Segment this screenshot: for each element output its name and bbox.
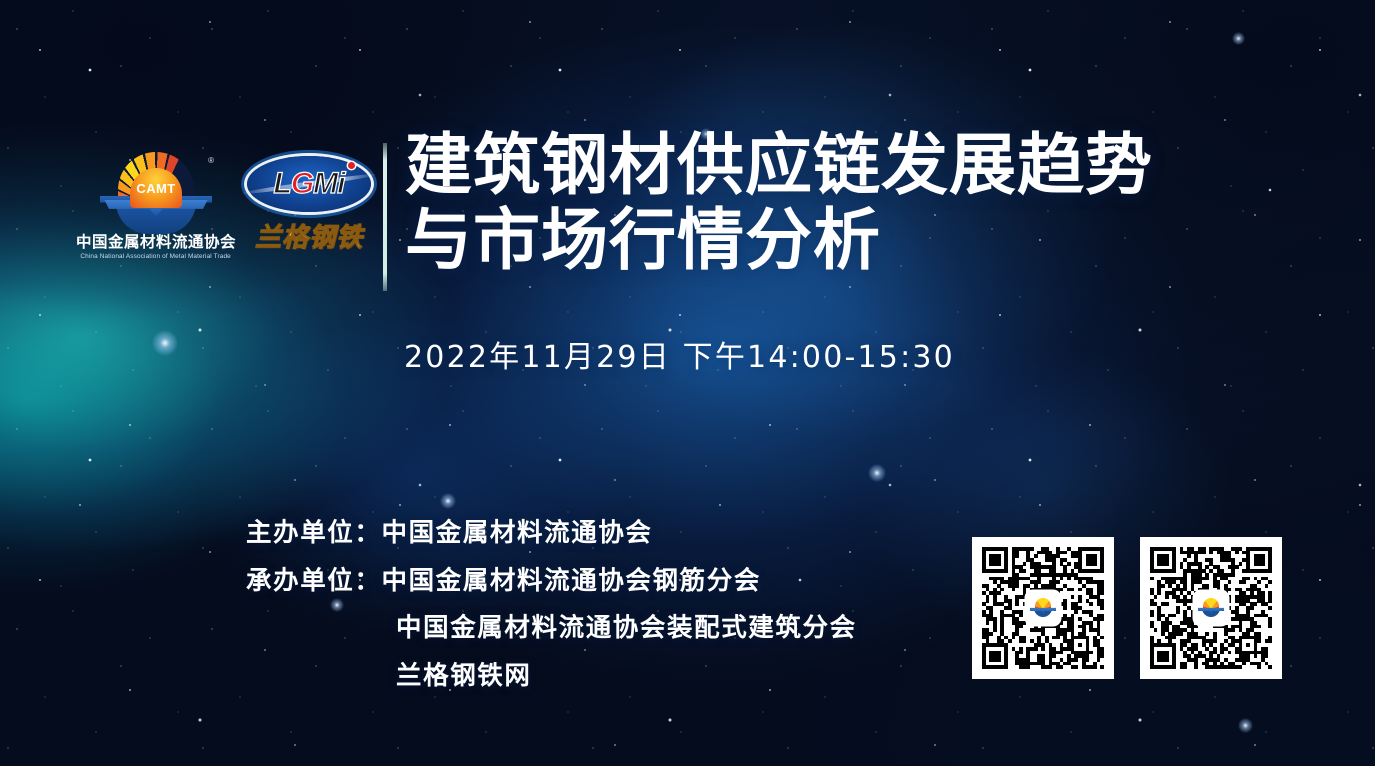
event-poster: CAMT ® 中国金属材料流通协会 China National Associa… xyxy=(0,0,1375,766)
qr-center-logo-icon xyxy=(1026,591,1060,625)
lgmi-letter-g: G xyxy=(291,167,313,200)
qr-code-right[interactable] xyxy=(1140,537,1282,679)
lgmi-emblem-icon: LGMi xyxy=(247,156,371,212)
event-datetime: 2022年11月29日 下午14:00-15:30 xyxy=(404,332,955,376)
title-line-1: 建筑钢材供应链发展趋势 xyxy=(405,128,1235,203)
lgmi-letter-m: M xyxy=(313,167,337,200)
organizer-label: 承办单位： xyxy=(246,569,382,595)
lgmi-dot-icon xyxy=(348,162,355,169)
lgmi-wordmark: LGMi xyxy=(273,169,344,199)
organizer-value: 中国金属材料流通协会装配式建筑分会 xyxy=(396,616,857,642)
lgmi-logo: LGMi 兰格钢铁 xyxy=(244,156,374,254)
camt-emblem-icon: CAMT ® xyxy=(94,150,218,228)
lgmi-name-chinese: 兰格钢铁 xyxy=(255,217,363,254)
organizer-row: 中国金属材料流通协会装配式建筑分会 xyxy=(246,616,857,642)
camt-name-english: China National Association of Metal Mate… xyxy=(81,253,232,260)
organizer-list: 主办单位： 中国金属材料流通协会 承办单位： 中国金属材料流通协会钢筋分会 中国… xyxy=(246,521,857,711)
organizer-label: 主办单位： xyxy=(246,521,382,547)
camt-monogram-text: CAMT xyxy=(136,181,175,196)
lgmi-letter-l: L xyxy=(273,167,290,200)
camt-logo: CAMT ® 中国金属材料流通协会 China National Associa… xyxy=(86,150,226,260)
lgmi-letter-i: i xyxy=(337,167,344,200)
page-title: 建筑钢材供应链发展趋势 与市场行情分析 xyxy=(405,128,1235,278)
registered-trademark-icon: ® xyxy=(208,156,214,165)
qr-center-logo-icon xyxy=(1194,591,1228,625)
qr-code-group xyxy=(972,537,1282,679)
vertical-divider xyxy=(383,143,387,291)
organizer-row: 主办单位： 中国金属材料流通协会 xyxy=(246,521,857,547)
title-line-2: 与市场行情分析 xyxy=(405,203,1235,278)
logo-group: CAMT ® 中国金属材料流通协会 China National Associa… xyxy=(86,150,374,260)
qr-code-left[interactable] xyxy=(972,537,1114,679)
organizer-value: 中国金属材料流通协会钢筋分会 xyxy=(382,569,761,595)
organizer-value: 兰格钢铁网 xyxy=(396,664,532,690)
organizer-row: 承办单位： 中国金属材料流通协会钢筋分会 xyxy=(246,569,857,595)
organizer-value: 中国金属材料流通协会 xyxy=(382,521,653,547)
organizer-row: 兰格钢铁网 xyxy=(246,664,857,690)
